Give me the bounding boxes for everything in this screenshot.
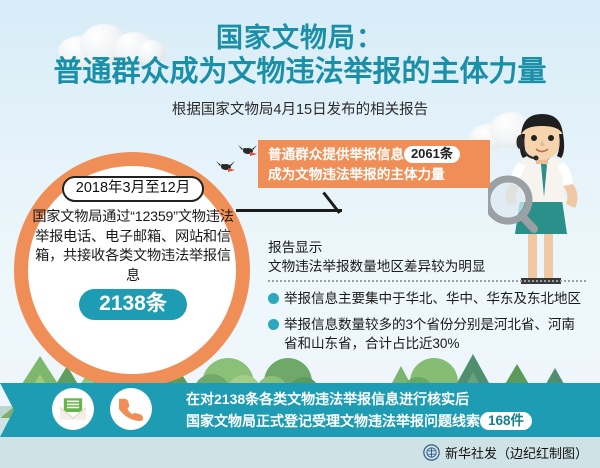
- magnifier-icon: [488, 179, 534, 229]
- callout-line-1: 普通群众提供举报信息2061条: [268, 145, 482, 165]
- callout-line-1-text: 普通群众提供举报信息: [268, 147, 404, 162]
- report-bullet-1-text: 举报信息主要集中于华北、华中、华东及东北地区: [284, 289, 581, 308]
- title-line-1: 国家文物局：: [0, 22, 600, 54]
- title-line-2: 普通群众成为文物违法举报的主体力量: [0, 54, 600, 90]
- telephone-icon-circle: [110, 388, 152, 430]
- xinhua-logo-icon: [423, 444, 440, 461]
- report-findings: 报告显示 文物违法举报数量地区差异较为明显 举报信息主要集中于华北、华中、华东及…: [268, 238, 586, 353]
- report-head-line-1: 报告显示: [268, 238, 586, 257]
- page-title: 国家文物局： 普通群众成为文物违法举报的主体力量: [0, 22, 600, 90]
- report-head-line-2: 文物违法举报数量地区差异较为明显: [268, 257, 586, 276]
- total-reports-badge: 2138条: [79, 289, 187, 320]
- envelope-icon-circle: [52, 388, 94, 430]
- telephone-icon: [119, 397, 143, 421]
- callout-line-2: 成为文物违法举报的主体力量: [268, 165, 482, 185]
- infographic-canvas: 国家文物局： 普通群众成为文物违法举报的主体力量 根据国家文物局4月15日发布的…: [0, 0, 600, 468]
- bullet-dot-icon: [268, 319, 279, 330]
- registered-cases-badge: 168件: [480, 412, 532, 430]
- banner-line-2-text: 国家文物局正式登记受理文物违法举报问题线索: [186, 413, 480, 429]
- report-bullet-2-text: 举报信息数量较多的3个省份分别是河北省、河南省和山东省，合计占比近30%: [284, 315, 586, 353]
- page-subtitle: 根据国家文物局4月15日发布的相关报告: [0, 98, 600, 119]
- report-bullet-2: 举报信息数量较多的3个省份分别是河北省、河南省和山东省，合计占比近30%: [268, 315, 586, 353]
- public-reports-callout: 普通群众提供举报信息2061条 成为文物违法举报的主体力量: [258, 140, 490, 188]
- banner-text-block: 在对2138条各类文物违法举报信息进行核实后 国家文物局正式登记受理文物违法举报…: [186, 388, 586, 432]
- footer-credit-text: 新华社发（边纪红制图）: [445, 443, 588, 462]
- public-reports-badge: 2061条: [404, 146, 460, 163]
- circle-body-text: 国家文物局通过“12359”文物违法举报电话、电子邮箱、网站和信箱，共接收各类文…: [22, 208, 244, 286]
- footer-credit: 新华社发（边纪红制图）: [423, 443, 588, 462]
- leader-line-horizontal: [236, 209, 342, 212]
- banner-line-2: 国家文物局正式登记受理文物违法举报问题线索168件: [186, 410, 586, 432]
- dotted-divider: [268, 280, 586, 282]
- date-range-badge: 2018年3月至12月: [62, 176, 204, 202]
- bullet-dot-icon: [268, 293, 279, 304]
- banner-line-1: 在对2138条各类文物违法举报信息进行核实后: [186, 388, 586, 410]
- envelope-icon: [60, 398, 86, 420]
- circle-content: 2018年3月至12月 国家文物局通过“12359”文物违法举报电话、电子邮箱、…: [22, 176, 244, 320]
- report-bullet-1: 举报信息主要集中于华北、华中、华东及东北地区: [268, 289, 586, 308]
